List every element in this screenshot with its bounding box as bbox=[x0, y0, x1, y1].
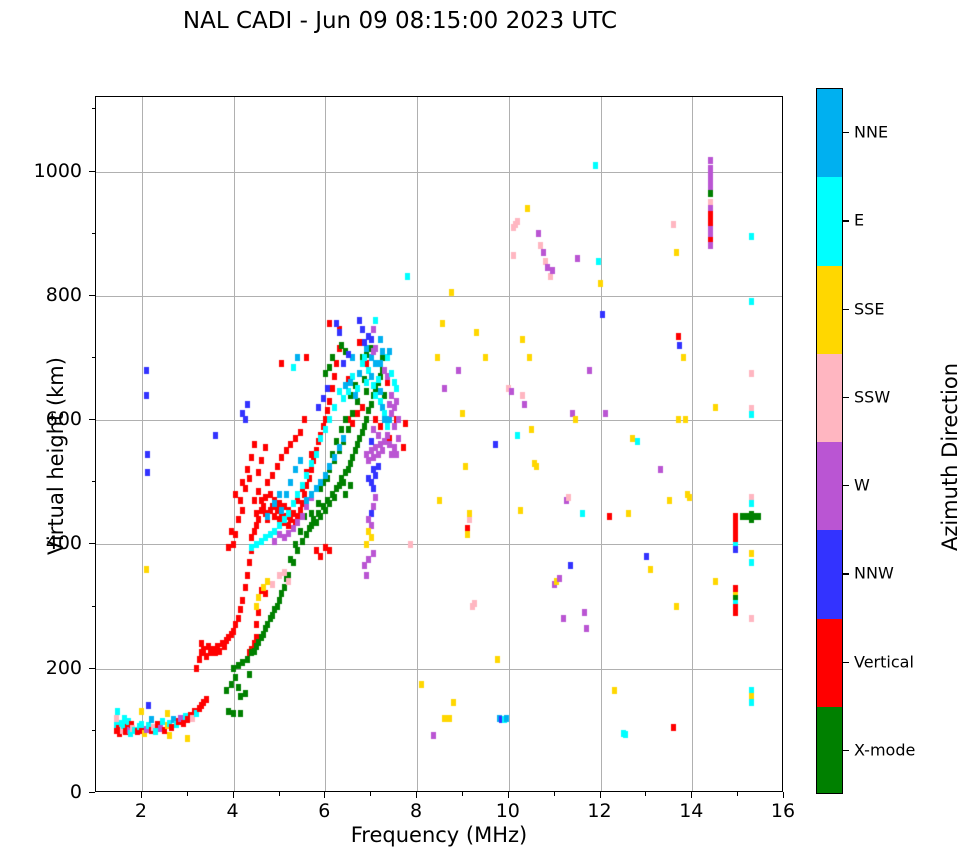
y-tick-minor bbox=[92, 233, 96, 234]
x-tick bbox=[600, 792, 601, 798]
y-tick bbox=[89, 792, 95, 793]
x-tick bbox=[691, 792, 692, 798]
colorbar bbox=[816, 88, 843, 794]
colorbar-segment-x-mode bbox=[817, 707, 842, 794]
colorbar-tick bbox=[843, 220, 849, 221]
colorbar-segment-sse bbox=[817, 266, 842, 354]
y-tick bbox=[89, 295, 95, 296]
y-tick-label: 0 bbox=[70, 781, 82, 803]
x-tick bbox=[324, 792, 325, 798]
colorbar-label-vertical: Vertical bbox=[854, 652, 914, 671]
ionogram-canvas bbox=[96, 97, 782, 791]
y-tick bbox=[89, 543, 95, 544]
x-tick-minor bbox=[279, 792, 280, 796]
x-tick-label: 6 bbox=[318, 800, 330, 822]
colorbar-segment-e bbox=[817, 177, 842, 265]
y-tick-minor bbox=[92, 108, 96, 109]
colorbar-tick bbox=[843, 132, 849, 133]
x-tick-label: 12 bbox=[587, 800, 611, 822]
x-tick bbox=[508, 792, 509, 798]
colorbar-tick bbox=[843, 750, 849, 751]
colorbar-tick bbox=[843, 309, 849, 310]
colorbar-segment-nnw bbox=[817, 530, 842, 618]
y-tick-minor bbox=[92, 730, 96, 731]
y-tick-label: 1000 bbox=[34, 160, 82, 182]
x-tick bbox=[233, 792, 234, 798]
colorbar-segment-nne bbox=[817, 89, 842, 177]
x-tick-label: 4 bbox=[227, 800, 239, 822]
colorbar-title: Azimuth Direction bbox=[938, 292, 958, 622]
x-tick bbox=[141, 792, 142, 798]
plot-area bbox=[95, 96, 783, 792]
y-tick-minor bbox=[92, 606, 96, 607]
x-tick-label: 16 bbox=[771, 800, 795, 822]
colorbar-label-w: W bbox=[854, 476, 870, 495]
colorbar-segment-w bbox=[817, 442, 842, 530]
colorbar-label-sse: SSE bbox=[854, 299, 884, 318]
x-tick-minor bbox=[645, 792, 646, 796]
x-tick-label: 10 bbox=[496, 800, 520, 822]
x-tick-minor bbox=[370, 792, 371, 796]
colorbar-label-nne: NNE bbox=[854, 123, 888, 142]
x-tick-minor bbox=[554, 792, 555, 796]
x-tick bbox=[416, 792, 417, 798]
x-tick-label: 8 bbox=[410, 800, 422, 822]
colorbar-tick bbox=[843, 397, 849, 398]
x-tick-label: 2 bbox=[135, 800, 147, 822]
y-tick-minor bbox=[92, 357, 96, 358]
data-layer bbox=[96, 97, 782, 791]
colorbar-label-x-mode: X-mode bbox=[854, 740, 915, 759]
colorbar-segment-vertical bbox=[817, 619, 842, 707]
y-tick-minor bbox=[92, 481, 96, 482]
y-axis-title: Virtual height (km) bbox=[44, 296, 68, 616]
x-tick-minor bbox=[462, 792, 463, 796]
y-tick-label: 200 bbox=[46, 657, 82, 679]
x-tick-label: 14 bbox=[679, 800, 703, 822]
x-tick bbox=[783, 792, 784, 798]
ionogram-page: NAL CADI - Jun 09 08:15:00 2023 UTC 2468… bbox=[0, 0, 958, 857]
colorbar-tick bbox=[843, 662, 849, 663]
colorbar-tick bbox=[843, 573, 849, 574]
colorbar-tick bbox=[843, 485, 849, 486]
colorbar-label-e: E bbox=[854, 211, 864, 230]
x-tick-minor bbox=[187, 792, 188, 796]
x-axis-title: Frequency (MHz) bbox=[95, 823, 783, 847]
page-title: NAL CADI - Jun 09 08:15:00 2023 UTC bbox=[0, 8, 800, 34]
y-tick bbox=[89, 171, 95, 172]
colorbar-label-ssw: SSW bbox=[854, 387, 890, 406]
y-tick bbox=[89, 419, 95, 420]
x-tick-minor bbox=[737, 792, 738, 796]
colorbar-label-nnw: NNW bbox=[854, 564, 894, 583]
colorbar-segment-ssw bbox=[817, 354, 842, 442]
y-tick bbox=[89, 668, 95, 669]
